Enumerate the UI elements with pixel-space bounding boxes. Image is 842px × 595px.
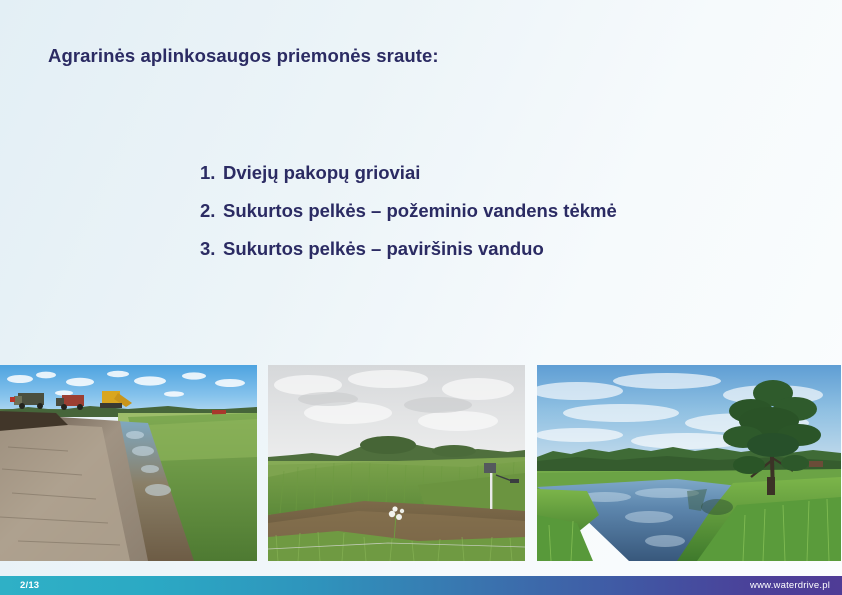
footer-bar: 2/13 www.waterdrive.pl	[0, 576, 842, 595]
presentation-slide: Agrarinės aplinkosaugos priemonės sraute…	[0, 0, 842, 595]
two-stage-ditch-construction-photo	[0, 365, 257, 561]
page-title: Agrarinės aplinkosaugos priemonės sraute…	[48, 45, 439, 67]
list-item: 2. Sukurtos pelkės – požeminio vandens t…	[200, 200, 760, 222]
list-item: 3. Sukurtos pelkės – paviršinis vanduo	[200, 238, 760, 260]
photo-strip	[0, 365, 842, 561]
photo-1-graphic	[0, 365, 257, 561]
photo-3-graphic	[537, 365, 841, 561]
numbered-list: 1. Dviejų pakopų grioviai 2. Sukurtos pe…	[200, 162, 760, 276]
photo-2-graphic	[268, 365, 525, 561]
list-item-number: 1.	[200, 162, 223, 184]
website-link[interactable]: www.waterdrive.pl	[750, 576, 830, 595]
page-indicator: 2/13	[20, 576, 39, 595]
list-item: 1. Dviejų pakopų grioviai	[200, 162, 760, 184]
constructed-wetland-surface-water-photo	[537, 365, 841, 561]
list-item-label: Dviejų pakopų grioviai	[223, 162, 760, 184]
list-item-number: 2.	[200, 200, 223, 222]
list-item-number: 3.	[200, 238, 223, 260]
list-item-label: Sukurtos pelkės – paviršinis vanduo	[223, 238, 760, 260]
list-item-label: Sukurtos pelkės – požeminio vandens tėkm…	[223, 200, 760, 222]
constructed-wetland-groundwater-photo	[268, 365, 525, 561]
